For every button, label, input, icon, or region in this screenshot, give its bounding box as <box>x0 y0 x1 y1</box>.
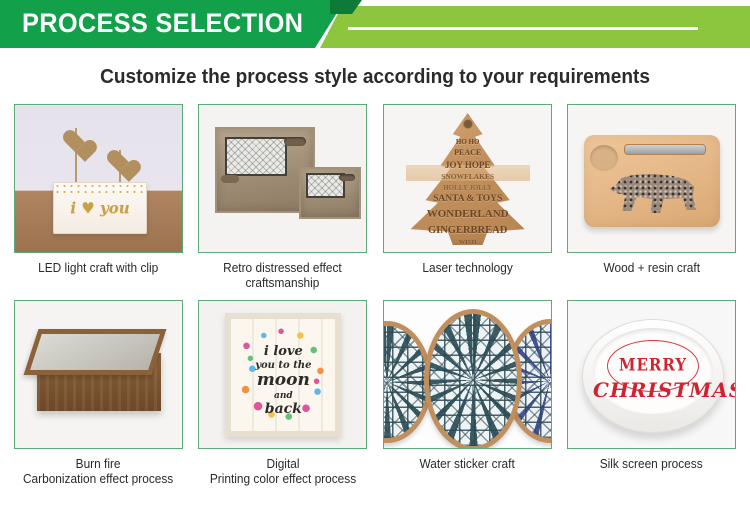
gold-dot-pattern <box>54 183 146 195</box>
sign-text-block: i love you to the moon and back <box>231 345 335 417</box>
engraved-line: WONDERLAND <box>427 207 509 223</box>
thumbnail-led-light-craft[interactable]: i ♥ you <box>14 104 183 253</box>
engraved-line: SANTA & TOYS <box>433 193 502 207</box>
page-header-banner: PROCESS SELECTION <box>0 0 750 48</box>
engraved-line: SNOWFLAKES <box>441 172 494 183</box>
card-caption: Wood + resin craft <box>603 261 699 276</box>
card-caption: Silk screen process <box>600 457 703 472</box>
thumbnail-water-sticker[interactable] <box>383 300 552 449</box>
crate-handle <box>284 137 306 146</box>
page-subtitle: Customize the process style according to… <box>26 65 724 89</box>
engraved-line: WISH <box>459 238 477 247</box>
engraved-line: HOLLY JOLLY <box>443 183 492 193</box>
board-round-recess <box>590 145 618 171</box>
page-title: PROCESS SELECTION <box>22 0 303 48</box>
bison-resin-inlay-icon <box>610 167 706 217</box>
wood-resin-bison-board-photo <box>568 105 735 252</box>
engraved-line: HO HO <box>456 137 480 147</box>
card-row-1: i ♥ you LED light craft with clip <box>0 104 750 291</box>
engraved-line: GINGERBREAD <box>428 223 507 238</box>
round-serving-tray: MERRY CHRISTMAS <box>582 319 724 433</box>
process-card-led-light-craft[interactable]: i ♥ you LED light craft with clip <box>14 104 183 291</box>
thumbnail-digital-printing[interactable]: i love you to the moon and back <box>198 300 367 449</box>
process-card-retro-distressed[interactable]: Retro distressed effect craftsmanship <box>198 104 367 291</box>
card-caption: Water sticker craft <box>420 457 515 472</box>
engraved-line: PEACE <box>454 147 481 159</box>
tile-pattern <box>383 326 427 438</box>
wooden-heart-icon-1 <box>63 129 89 153</box>
sign-line: moon <box>231 371 335 391</box>
laser-engraved-tree-board-photo: HO HO PEACE JOY HOPE SNOWFLAKES HOLLY JO… <box>384 105 551 252</box>
led-light-craft-photo: i ♥ you <box>15 105 182 252</box>
board-knife-slot <box>624 144 706 155</box>
tray-text-merry: MERRY <box>593 355 713 375</box>
tray-inner-surface: MERRY CHRISTMAS <box>593 328 713 414</box>
thumbnail-burn-fire[interactable] <box>14 300 183 449</box>
process-card-grid: i ♥ you LED light craft with clip <box>0 104 750 487</box>
card-row-2: Burn fire Carbonization effect process i… <box>0 300 750 487</box>
card-caption: Burn fire Carbonization effect process <box>23 457 173 487</box>
tray-text-christmas: CHRISTMAS <box>593 378 713 402</box>
process-card-burn-fire[interactable]: Burn fire Carbonization effect process <box>14 300 183 487</box>
glass-panel <box>30 334 160 370</box>
card-caption: LED light craft with clip <box>38 261 158 276</box>
process-card-silk-screen[interactable]: MERRY CHRISTMAS Silk screen process <box>567 300 736 487</box>
i-love-you-text: i ♥ you <box>54 199 146 217</box>
digital-printed-floral-sign-photo: i love you to the moon and back <box>199 301 366 448</box>
banner-white-divider-line <box>348 27 698 30</box>
thumbnail-silk-screen[interactable]: MERRY CHRISTMAS <box>567 300 736 449</box>
thumbnail-laser-technology[interactable]: HO HO PEACE JOY HOPE SNOWFLAKES HOLLY JO… <box>383 104 552 253</box>
tile-pattern <box>429 314 517 446</box>
small-wooden-crate <box>299 167 361 219</box>
process-card-digital-printing[interactable]: i love you to the moon and back Digital … <box>198 300 367 487</box>
card-caption: Laser technology <box>422 261 512 276</box>
sign-line: back <box>231 401 335 417</box>
sign-line: i love <box>231 345 335 360</box>
crate-wire-mesh <box>225 137 287 175</box>
process-card-wood-resin[interactable]: Wood + resin craft <box>567 104 736 291</box>
engraved-line: JOY HOPE <box>445 159 490 172</box>
thumbnail-wood-resin[interactable] <box>567 104 736 253</box>
wooden-sign-panel: i love you to the moon and back <box>225 313 341 437</box>
led-wooden-base: i ♥ you <box>53 182 147 234</box>
engraved-text-block: HO HO PEACE JOY HOPE SNOWFLAKES HOLLY JO… <box>406 113 530 245</box>
burn-fire-wooden-box-photo <box>15 301 182 448</box>
carbonized-box-lid <box>24 329 167 375</box>
process-card-laser-technology[interactable]: HO HO PEACE JOY HOPE SNOWFLAKES HOLLY JO… <box>383 104 552 291</box>
crate-handle-side <box>221 175 239 183</box>
crate-handle <box>339 174 355 181</box>
card-caption: Digital Printing color effect process <box>210 457 356 487</box>
sign-line: and <box>231 391 335 401</box>
thumbnail-retro-distressed[interactable] <box>198 104 367 253</box>
water-sticker-oval-trays-photo <box>384 301 551 448</box>
silk-screen-christmas-tray-photo: MERRY CHRISTMAS <box>568 301 735 448</box>
process-card-water-sticker[interactable]: Water sticker craft <box>383 300 552 487</box>
card-caption: Retro distressed effect craftsmanship <box>224 261 343 291</box>
wooden-cutting-board <box>584 135 720 227</box>
wooden-heart-icon-2 <box>107 149 133 173</box>
oval-tray-center <box>424 309 522 449</box>
retro-distressed-crates-photo <box>199 105 366 252</box>
